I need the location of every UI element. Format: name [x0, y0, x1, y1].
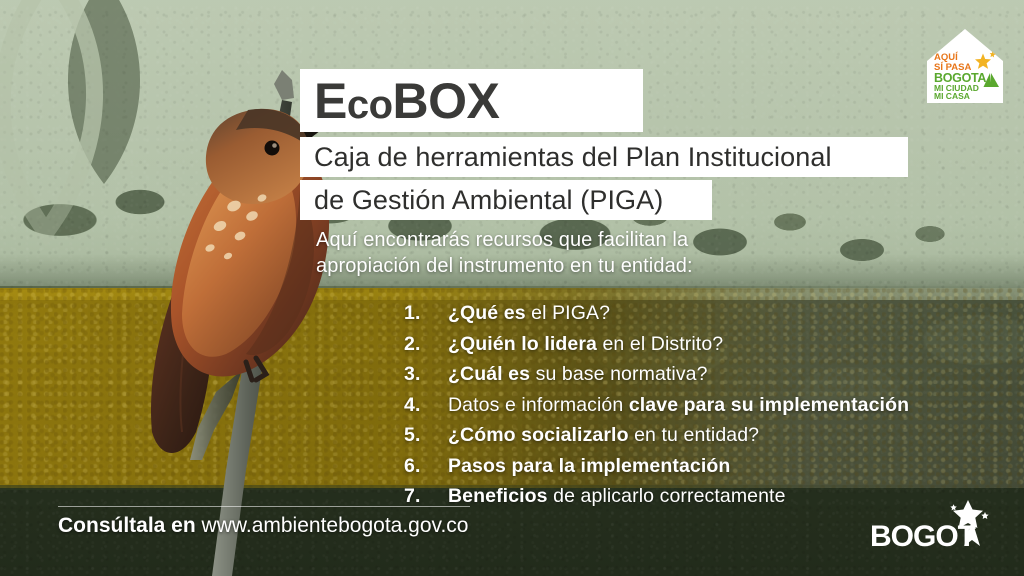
- list-item-number: 3.: [404, 365, 448, 385]
- title-prefix-small: co: [347, 83, 393, 127]
- footer-url: www.ambientebogota.gov.co: [196, 514, 469, 537]
- poster-canvas: EcoBOX Caja de herramientas del Plan Ins…: [0, 0, 1024, 576]
- list-item-number: 7.: [404, 487, 448, 507]
- list-item[interactable]: 4. Datos e información clave para su imp…: [404, 396, 984, 416]
- list-item-label: ¿Cómo socializarlo en tu entidad?: [448, 426, 759, 446]
- topics-list: 1.¿Qué es el PIGA?2.¿Quién lo lidera en …: [404, 304, 984, 518]
- subtitle-line-2-text: de Gestión Ambiental (PIGA): [314, 187, 663, 214]
- list-item-label: Beneficios de aplicarlo correctamente: [448, 487, 786, 507]
- list-item[interactable]: 2.¿Quién lo lidera en el Distrito?: [404, 335, 984, 355]
- list-item-label: ¿Qué es el PIGA?: [448, 304, 610, 324]
- list-item-number: 6.: [404, 457, 448, 477]
- logo-line-5: MI CASA: [934, 91, 970, 101]
- footer-label: Consúltala en: [58, 514, 196, 537]
- subtitle-line-2: de Gestión Ambiental (PIGA): [300, 180, 712, 220]
- list-item[interactable]: 6.Pasos para la implementación: [404, 457, 984, 477]
- list-item-label: ¿Quién lo lidera en el Distrito?: [448, 335, 723, 355]
- list-item[interactable]: 1.¿Qué es el PIGA?: [404, 304, 984, 324]
- footer-divider: [58, 506, 470, 507]
- list-item-label: Pasos para la implementación: [448, 457, 730, 477]
- page-title: EcoBOX: [300, 69, 643, 132]
- list-item-label: ¿Cuál es su base normativa?: [448, 365, 708, 385]
- list-item[interactable]: 3.¿Cuál es su base normativa?: [404, 365, 984, 385]
- title-suffix: BOX: [393, 73, 500, 129]
- list-item-number: 4.: [404, 396, 448, 416]
- intro-paragraph: Aquí encontrarás recursos que facilitan …: [316, 228, 746, 279]
- list-item-number: 2.: [404, 335, 448, 355]
- list-item-label: Datos e información clave para su implem…: [448, 396, 909, 416]
- title-prefix: E: [314, 73, 347, 129]
- subtitle-line-1: Caja de herramientas del Plan Institucio…: [300, 137, 908, 177]
- footer-website[interactable]: Consúltala en www.ambientebogota.gov.co: [58, 513, 468, 538]
- aqui-si-pasa-bogota-logo: AQUÍ SÍ PASA BOGOTA MI CIUDAD MI CASA: [923, 27, 1007, 105]
- list-item-number: 1.: [404, 304, 448, 324]
- bogota-wordmark-logo: BOGOT: [868, 498, 990, 560]
- subtitle-line-1-text: Caja de herramientas del Plan Institucio…: [314, 144, 832, 171]
- list-item-number: 5.: [404, 426, 448, 446]
- list-item[interactable]: 5.¿Cómo socializarlo en tu entidad?: [404, 426, 984, 446]
